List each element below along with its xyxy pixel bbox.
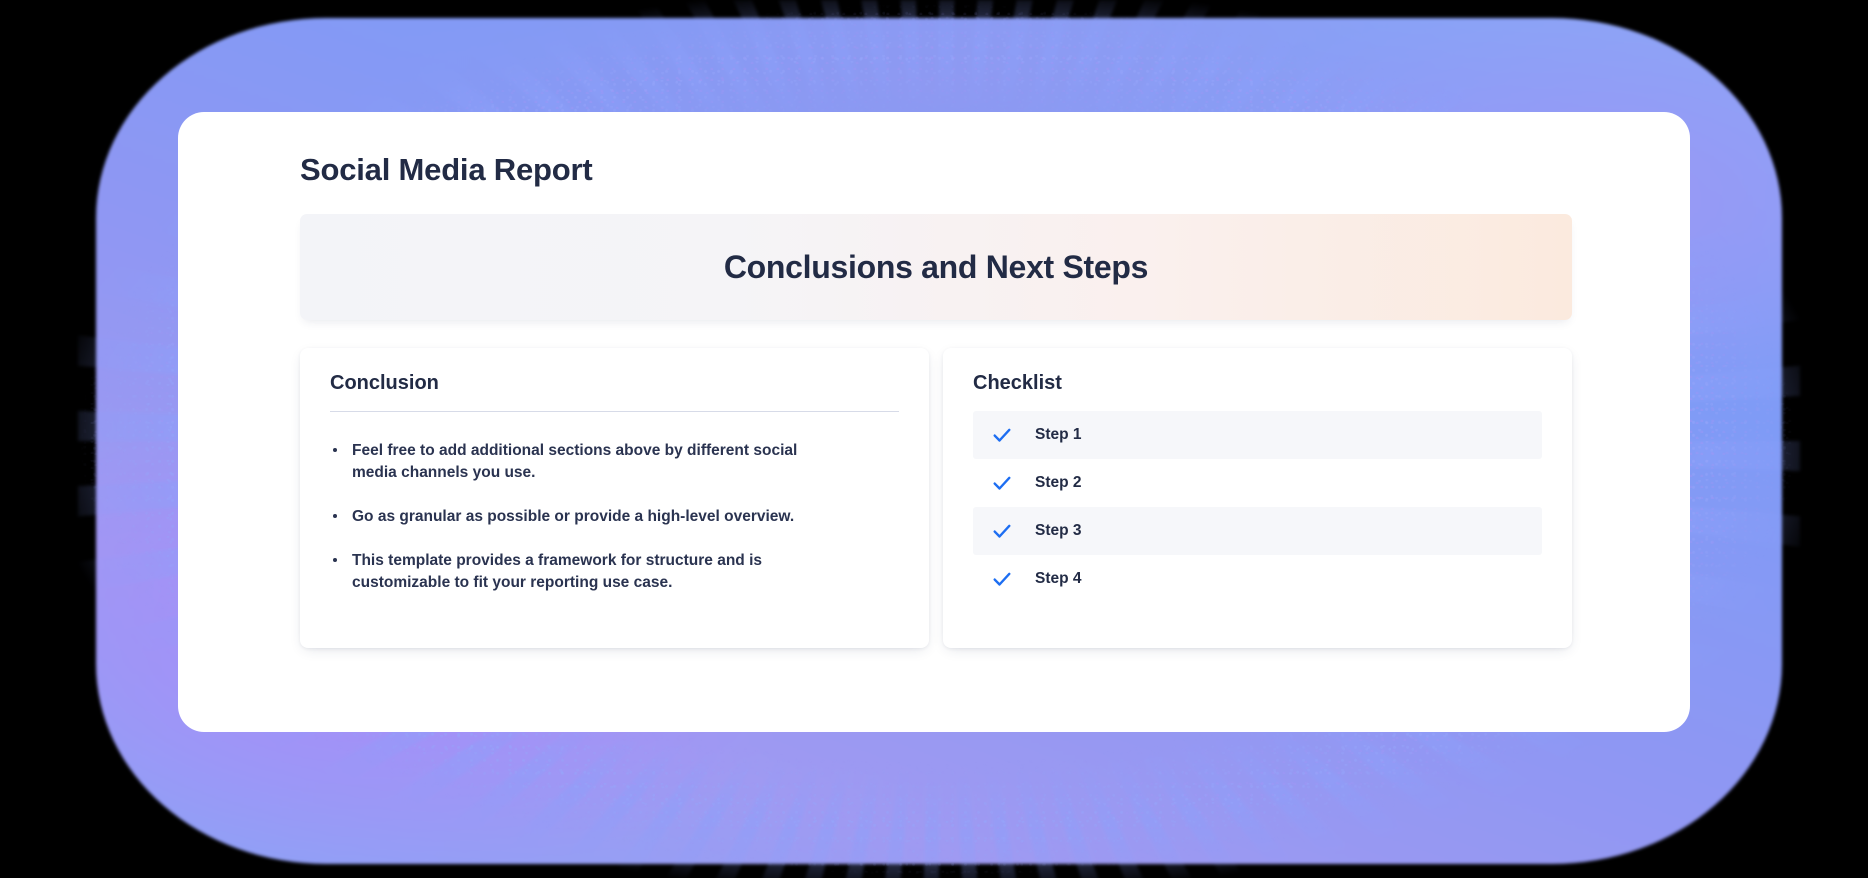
checklist-item-label: Step 1	[1035, 426, 1082, 444]
check-icon[interactable]	[991, 568, 1013, 590]
bullet-dot-icon	[333, 558, 337, 562]
panel-columns: Conclusion Feel free to add additional s…	[300, 348, 1572, 648]
checklist-panel: Checklist Step 1Step 2Step 3Step 4	[943, 348, 1572, 648]
conclusion-bullet-item: This template provides a framework for s…	[330, 550, 800, 594]
conclusion-bullet-text: This template provides a framework for s…	[352, 552, 762, 591]
conclusion-bullet-item: Feel free to add additional sections abo…	[330, 440, 800, 484]
check-icon[interactable]	[991, 424, 1013, 446]
banner-title: Conclusions and Next Steps	[724, 249, 1148, 286]
conclusion-bullet-item: Go as granular as possible or provide a …	[330, 506, 800, 528]
section-banner: Conclusions and Next Steps	[300, 214, 1572, 320]
page-title: Social Media Report	[300, 152, 1572, 188]
conclusion-bullet-text: Feel free to add additional sections abo…	[352, 442, 797, 481]
slide-card: Social Media Report Conclusions and Next…	[178, 112, 1690, 732]
checklist-item-label: Step 3	[1035, 522, 1082, 540]
check-icon[interactable]	[991, 472, 1013, 494]
checklist-row[interactable]: Step 4	[973, 555, 1542, 603]
slide-stage: Social Media Report Conclusions and Next…	[0, 0, 1868, 878]
checklist-item-label: Step 4	[1035, 570, 1082, 588]
conclusion-divider	[330, 411, 899, 412]
conclusion-bullet-text: Go as granular as possible or provide a …	[352, 508, 794, 525]
checklist-heading: Checklist	[973, 372, 1542, 395]
conclusion-panel: Conclusion Feel free to add additional s…	[300, 348, 929, 648]
bullet-dot-icon	[333, 514, 337, 518]
checklist-row[interactable]: Step 3	[973, 507, 1542, 555]
checklist-rows: Step 1Step 2Step 3Step 4	[973, 411, 1542, 603]
checklist-item-label: Step 2	[1035, 474, 1082, 492]
slide-content: Social Media Report Conclusions and Next…	[300, 152, 1572, 692]
check-icon[interactable]	[991, 520, 1013, 542]
conclusion-heading: Conclusion	[330, 372, 899, 395]
checklist-row[interactable]: Step 1	[973, 411, 1542, 459]
checklist-row[interactable]: Step 2	[973, 459, 1542, 507]
conclusion-bullet-list: Feel free to add additional sections abo…	[330, 440, 899, 594]
bullet-dot-icon	[333, 448, 337, 452]
